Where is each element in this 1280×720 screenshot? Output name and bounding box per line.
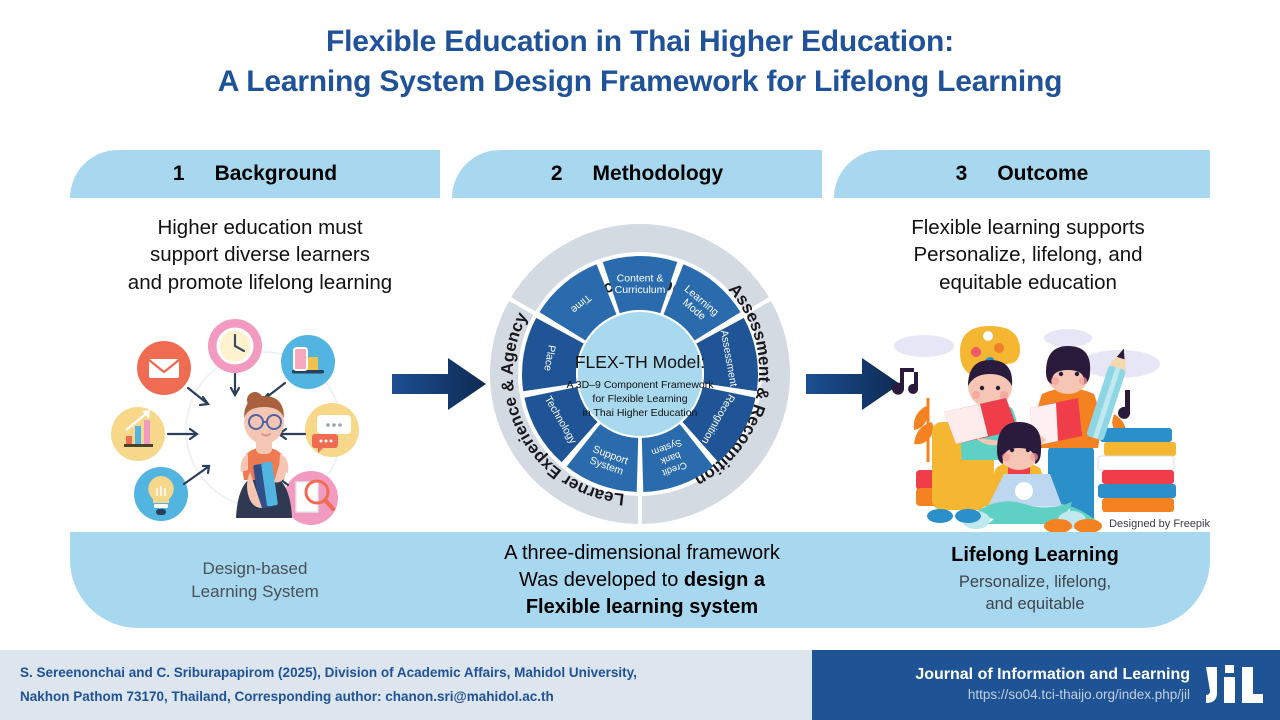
background-lead-text: Higher education must support diverse le… bbox=[78, 214, 442, 296]
summary-methodology-line-2-bold: design a bbox=[684, 569, 765, 591]
clock-icon bbox=[208, 319, 262, 373]
envelope-icon bbox=[137, 341, 191, 395]
outcome-lead-line-1: Flexible learning supports bbox=[846, 214, 1210, 241]
summary-background-line-2: Learning System bbox=[191, 580, 319, 603]
document-search-icon bbox=[284, 471, 338, 525]
footer: S. Sereenonchai and C. Sriburapapirom (2… bbox=[0, 650, 1280, 720]
summary-methodology-line-1: A three-dimensional framework bbox=[504, 540, 780, 567]
hub-line-1: A 3D–9 Component Framework bbox=[566, 379, 714, 391]
outcome-lead-line-3: equitable education bbox=[846, 269, 1210, 296]
summary-outcome-sub: Personalize, lifelong, and equitable bbox=[959, 572, 1111, 616]
summary-outcome: Lifelong Learning Personalize, lifelong,… bbox=[860, 532, 1210, 628]
jil-logo-icon bbox=[1202, 663, 1266, 707]
section-number-2: 2 bbox=[551, 162, 563, 186]
summary-outcome-heading: Lifelong Learning bbox=[951, 544, 1119, 567]
bar-chart-icon bbox=[111, 407, 165, 461]
section-label-methodology: Methodology bbox=[593, 162, 724, 186]
section-header-outcome[interactable]: 3 Outcome bbox=[834, 150, 1210, 198]
section-label-outcome: Outcome bbox=[997, 162, 1088, 186]
footer-citation-area: S. Sereenonchai and C. Sriburapapirom (2… bbox=[0, 650, 812, 720]
summary-outcome-sub-line-2: and equitable bbox=[959, 594, 1111, 616]
shoes-left-figure bbox=[927, 509, 981, 523]
arrow-background-to-methodology bbox=[392, 356, 488, 412]
hub-title: FLEX-TH Model: bbox=[575, 352, 705, 372]
summary-methodology-line-2: Was developed to design a bbox=[519, 567, 765, 594]
summary-background: Design-based Learning System bbox=[70, 532, 440, 628]
hub-line-2: for Flexible Learning bbox=[592, 393, 687, 405]
background-lead-line-1: Higher education must bbox=[78, 214, 442, 241]
outcome-lead-text: Flexible learning supports Personalize, … bbox=[846, 214, 1210, 296]
page-title: Flexible Education in Thai Higher Educat… bbox=[0, 22, 1280, 102]
page-title-line-2: A Learning System Design Framework for L… bbox=[0, 62, 1280, 102]
section-header-background[interactable]: 1 Background bbox=[70, 150, 440, 198]
summary-methodology: A three-dimensional framework Was develo… bbox=[442, 532, 842, 628]
summary-band: Design-based Learning System A three-dim… bbox=[70, 532, 1210, 628]
summary-methodology-line-2-plain: Was developed to bbox=[519, 569, 684, 591]
section-header-row: 1 Background 2 Methodology 3 Outcome bbox=[0, 150, 1280, 198]
background-lead-line-2: support diverse learners bbox=[78, 241, 442, 268]
journal-text: Journal of Information and Learning http… bbox=[915, 665, 1190, 704]
background-lead-line-3: and promote lifelong learning bbox=[78, 269, 442, 296]
footer-citation: S. Sereenonchai and C. Sriburapapirom (2… bbox=[0, 661, 637, 708]
hub-line-3: in Thai Higher Education bbox=[583, 407, 698, 419]
footer-citation-line-1: S. Sereenonchai and C. Sriburapapirom (2… bbox=[20, 661, 637, 685]
lightbulb-icon bbox=[134, 467, 188, 521]
flex-th-model-wheel: Curriculum Design Assessment & Recogniti… bbox=[487, 216, 793, 532]
wheel-segment-label: Content &Curriculum bbox=[615, 273, 666, 297]
outcome-illustration bbox=[872, 302, 1202, 536]
section-number-3: 3 bbox=[956, 162, 968, 186]
footer-citation-line-2: Nakhon Pathom 73170, Thailand, Correspon… bbox=[20, 685, 637, 709]
section-label-background: Background bbox=[215, 162, 338, 186]
section-number-1: 1 bbox=[173, 162, 185, 186]
section-header-methodology[interactable]: 2 Methodology bbox=[452, 150, 822, 198]
outcome-lead-line-2: Personalize, lifelong, and bbox=[846, 241, 1210, 268]
student-figure bbox=[236, 392, 292, 518]
freepik-credit: Designed by Freepik bbox=[1090, 518, 1210, 530]
chat-icon bbox=[305, 403, 359, 457]
summary-methodology-line-3: Flexible learning system bbox=[526, 594, 758, 621]
book-stack-right bbox=[1098, 428, 1176, 512]
page-title-line-1: Flexible Education in Thai Higher Educat… bbox=[0, 22, 1280, 62]
summary-outcome-sub-line-1: Personalize, lifelong, bbox=[959, 572, 1111, 594]
journal-name: Journal of Information and Learning bbox=[915, 665, 1190, 686]
devices-icon bbox=[281, 335, 335, 389]
journal-badge[interactable]: Journal of Information and Learning http… bbox=[812, 650, 1280, 720]
summary-background-line-1: Design-based bbox=[203, 557, 308, 580]
background-illustration bbox=[104, 312, 424, 534]
journal-url[interactable]: https://so04.tci-thaijo.org/index.php/ji… bbox=[915, 686, 1190, 704]
